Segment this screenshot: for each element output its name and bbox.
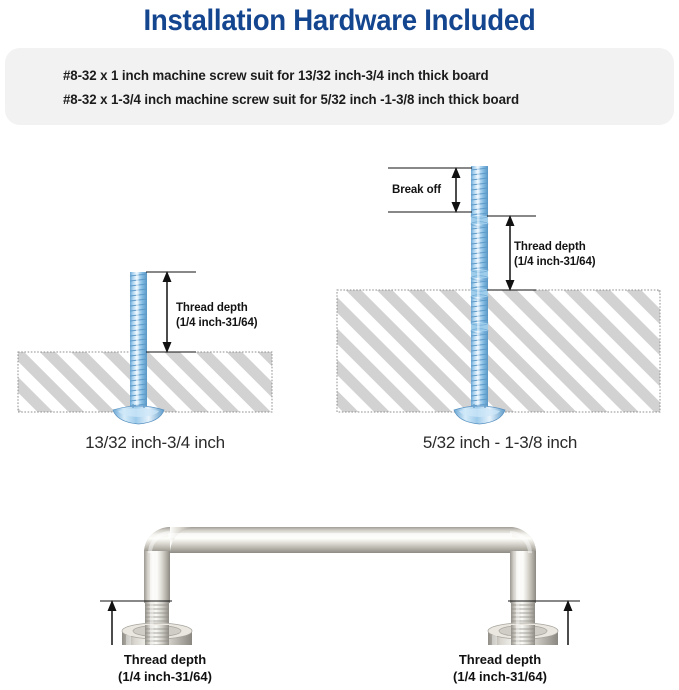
handle-thread-depth-left-line1: Thread depth [124,652,206,667]
handle-thread-depth-label-right: Thread depth (1/4 inch-31/64) [420,651,580,685]
caption-board-thickness-short: 13/32 inch-3/4 inch [20,433,290,453]
break-off-label: Break off [392,183,441,198]
screw-diagram-long [330,150,679,430]
page-title: Installation Hardware Included [27,2,652,42]
handle-thread-depth-label-left: Thread depth (1/4 inch-31/64) [85,651,245,685]
cabinet-pull-handle-diagram [60,495,620,645]
caption-board-thickness-long: 5/32 inch - 1-3/8 inch [335,433,665,453]
screw-diagram-short [0,250,300,430]
handle-thread-depth-right-line1: Thread depth [459,652,541,667]
thread-depth-label-left-line2: (1/4 inch-31/64) [176,317,258,329]
hardware-spec-box: #8-32 x 1 inch machine screw suit for 13… [5,48,674,125]
thread-depth-label-right: Thread depth (1/4 inch-31/64) [514,240,596,269]
hardware-spec-line-2: #8-32 x 1-3/4 inch machine screw suit fo… [63,92,519,107]
handle-bar [144,527,536,603]
thread-depth-label-right-line1: Thread depth [514,241,586,253]
board-cross-section [337,290,660,412]
thread-depth-label-left: Thread depth (1/4 inch-31/64) [176,301,258,330]
thread-depth-label-left-line1: Thread depth [176,302,248,314]
handle-thread-depth-left-line2: (1/4 inch-31/64) [118,669,212,684]
thread-depth-label-right-line2: (1/4 inch-31/64) [514,256,596,268]
handle-thread-depth-right-line2: (1/4 inch-31/64) [453,669,547,684]
threaded-post-right [488,601,558,645]
hardware-spec-line-1: #8-32 x 1 inch machine screw suit for 13… [63,68,489,83]
threaded-post-left [122,601,192,645]
